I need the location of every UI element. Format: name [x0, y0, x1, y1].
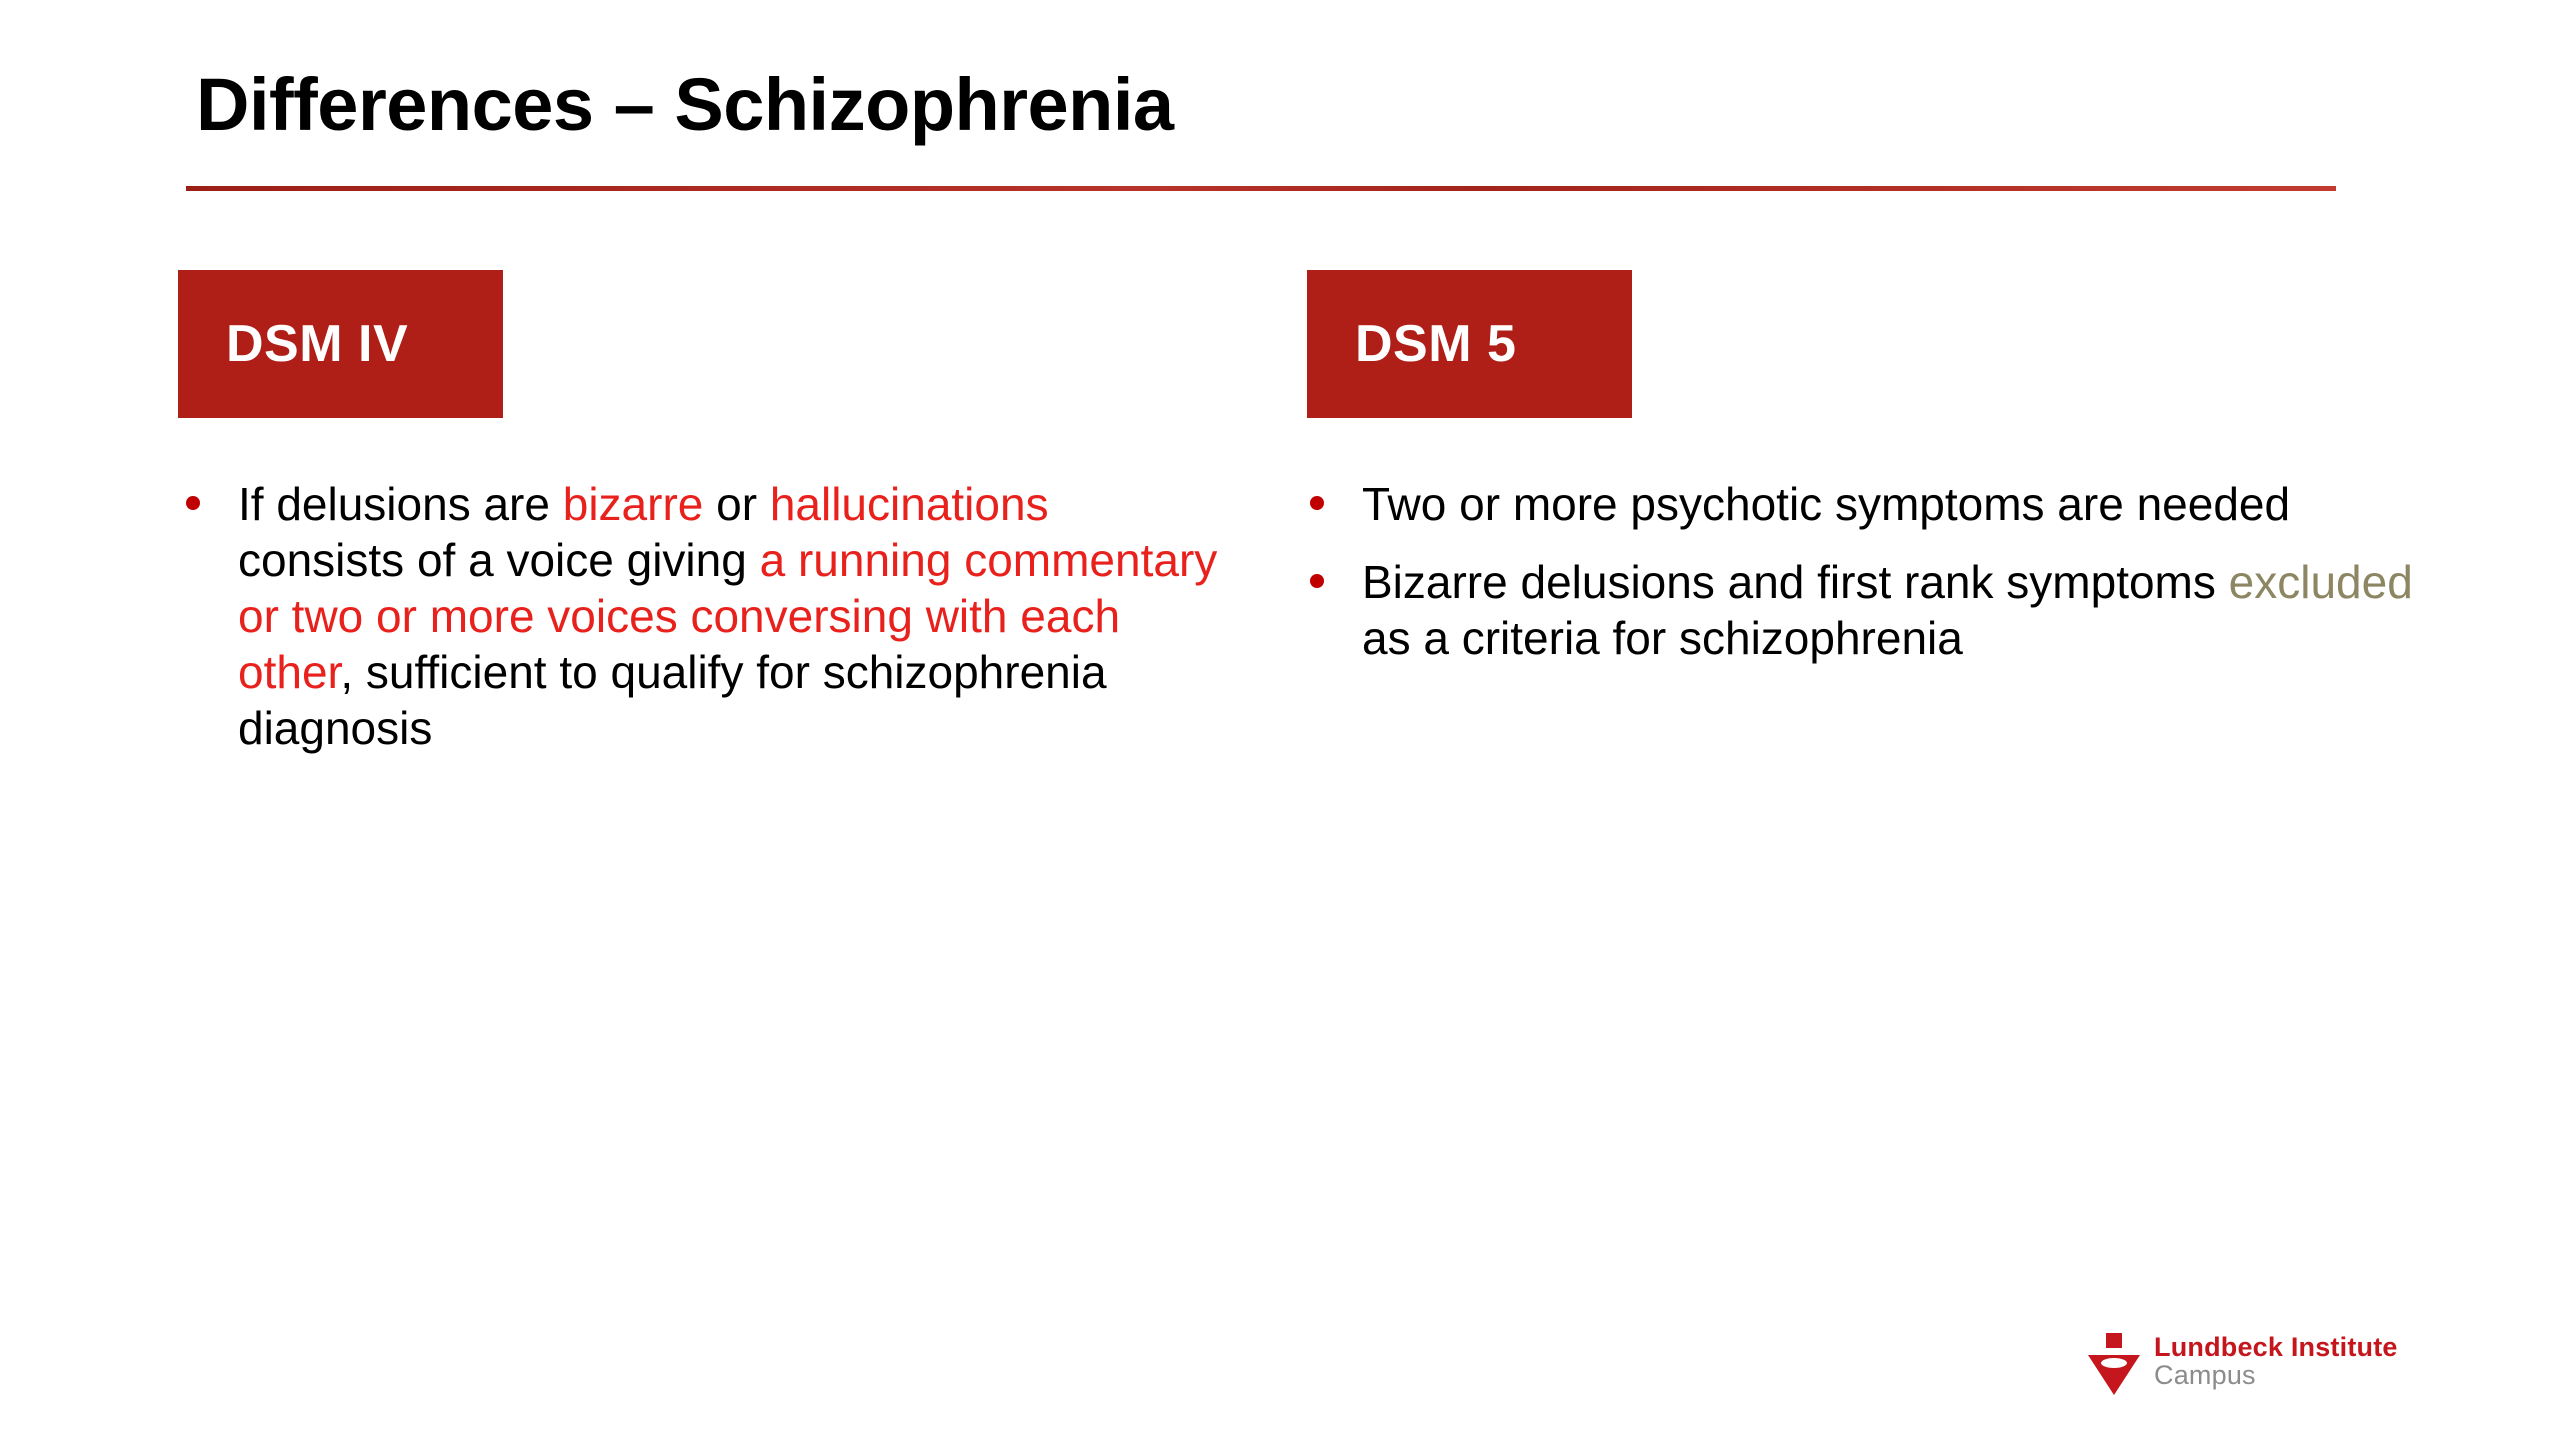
logo-line-institute: Lundbeck Institute [2154, 1333, 2398, 1361]
bullet-text-segment: as a criteria for schizophrenia [1362, 612, 1963, 664]
slide-canvas: Differences – Schizophrenia DSM IV DSM 5… [0, 0, 2560, 1440]
bullet-item: Two or more psychotic symptoms are neede… [1310, 476, 2440, 532]
column-header-dsm-5: DSM 5 [1307, 270, 1632, 418]
bullet-item: Bizarre delusions and first rank symptom… [1310, 554, 2440, 666]
bullet-text-segment: , sufficient to qualify for schizophreni… [238, 646, 1107, 754]
bullet-text-segment: If delusions are [238, 478, 563, 530]
column-header-dsm-iv-label: DSM IV [226, 314, 408, 374]
bullet-text-segment: Bizarre delusions and first rank symptom… [1362, 556, 2229, 608]
logo-wordmark: Lundbeck Institute Campus [2154, 1333, 2398, 1390]
bullet-text-highlight: bizarre [563, 478, 704, 530]
bullet-dot-icon [1310, 476, 1362, 510]
bullet-text: If delusions are bizarre or hallucinatio… [238, 476, 1221, 757]
brand-logo: Lundbeck Institute Campus [2088, 1333, 2398, 1395]
bullet-text-highlight: hallucinations [770, 478, 1049, 530]
logo-line-campus: Campus [2154, 1361, 2398, 1389]
column-header-dsm-5-label: DSM 5 [1355, 314, 1516, 374]
bullet-text-segment: or [703, 478, 769, 530]
bullet-item: If delusions are bizarre or hallucinatio… [186, 476, 1221, 757]
bullet-text-segment: Two or more psychotic symptoms are neede… [1362, 478, 2290, 530]
bullet-text-highlight: excluded [2229, 556, 2413, 608]
column-body-dsm-iv: If delusions are bizarre or hallucinatio… [186, 476, 1221, 779]
bullet-text-segment: consists of a voice giving [238, 534, 760, 586]
bullet-dot-icon [186, 476, 238, 510]
title-divider-rule [186, 186, 2336, 191]
page-title: Differences – Schizophrenia [196, 64, 1174, 145]
bullet-text: Bizarre delusions and first rank symptom… [1362, 554, 2440, 666]
lundbeck-funnel-icon [2088, 1333, 2140, 1395]
column-header-dsm-iv: DSM IV [178, 270, 503, 418]
bullet-dot-icon [1310, 554, 1362, 588]
bullet-text: Two or more psychotic symptoms are neede… [1362, 476, 2440, 532]
column-body-dsm-5: Two or more psychotic symptoms are neede… [1310, 476, 2440, 688]
